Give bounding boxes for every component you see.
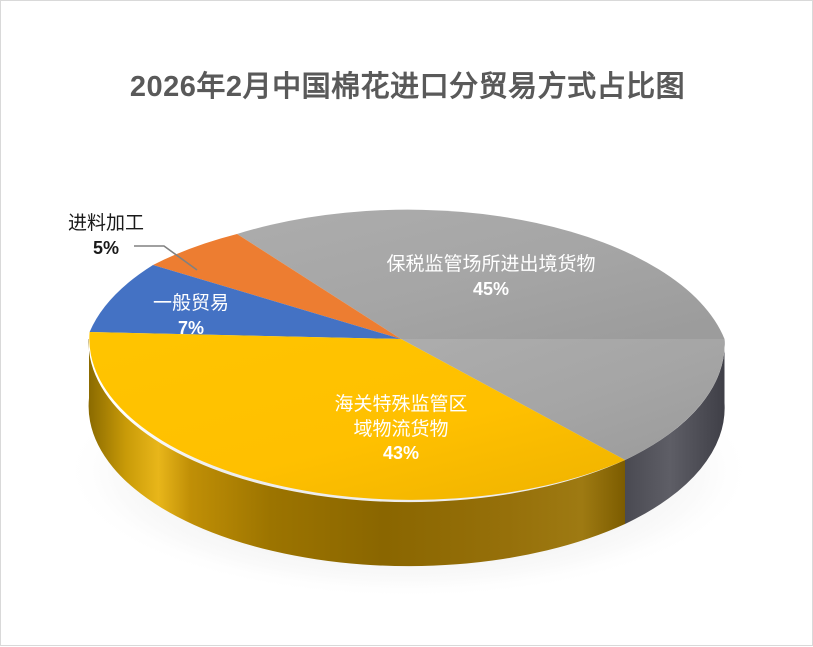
chart-container: 2026年2月中国棉花进口分贸易方式占比图	[0, 0, 813, 646]
pie-chart-graphic	[1, 1, 813, 647]
